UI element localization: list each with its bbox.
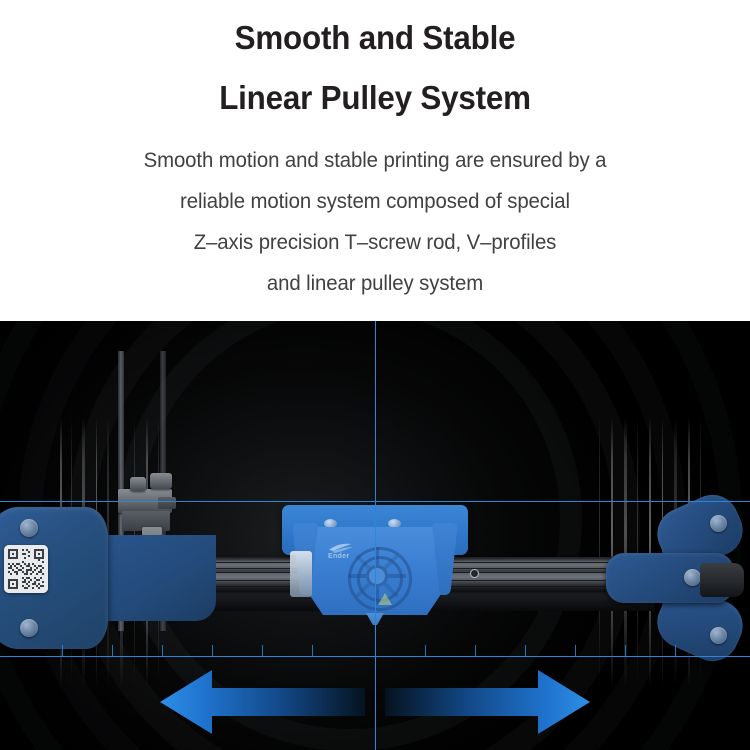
bracket-boss <box>684 569 701 586</box>
product-photo: Ender <box>0 321 750 750</box>
body-line-3: Z–axis precision T–screw rod, V–profiles <box>11 222 739 263</box>
bracket-boss <box>710 627 727 644</box>
rail-hole <box>470 569 479 578</box>
headline-line-1: Smooth and Stable <box>19 10 732 66</box>
arrow-left-icon <box>160 666 365 738</box>
text-panel: Smooth and Stable Linear Pulley System S… <box>0 0 750 321</box>
body-line-1: Smooth motion and stable printing are en… <box>11 140 739 181</box>
bracket-boss <box>710 515 727 532</box>
body-line-4: and linear pulley system <box>11 263 739 304</box>
rail-end-cap <box>700 563 744 597</box>
measurement-ruler <box>0 643 750 657</box>
bracket-boss <box>20 619 38 637</box>
bracket-boss <box>20 519 38 537</box>
belt-clamp <box>290 551 312 597</box>
arrow-right-icon <box>385 666 590 738</box>
headline-line-2: Linear Pulley System <box>19 70 732 126</box>
warning-triangle-icon <box>378 593 392 605</box>
svg-text:Ender: Ender <box>328 553 349 559</box>
qr-code-sticker <box>4 545 48 593</box>
travel-direction-arrows <box>0 666 750 738</box>
body-copy: Smooth motion and stable printing are en… <box>0 140 750 304</box>
body-line-2: reliable motion system composed of speci… <box>11 181 739 222</box>
product-feature-page: Smooth and Stable Linear Pulley System S… <box>0 0 750 750</box>
fan-grille <box>348 547 406 605</box>
